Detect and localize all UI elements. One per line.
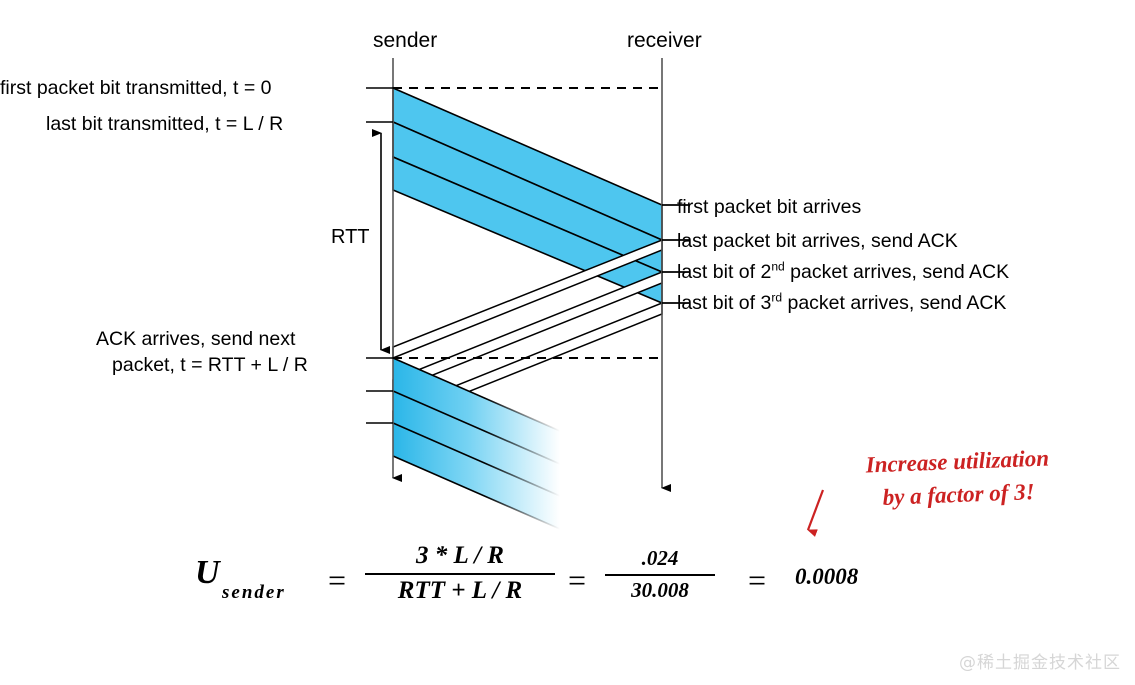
label-ack-arrives-line2: packet, t = RTT + L / R	[112, 353, 308, 378]
annotation-arrow	[808, 490, 823, 530]
label-last-bit-transmitted: last bit transmitted, t = L / R	[46, 112, 283, 137]
label-2nd-post: packet arrives, send ACK	[785, 261, 1009, 283]
equation-equals-3: =	[748, 562, 766, 599]
equation-u-symbol: U	[195, 554, 220, 592]
equation-u-subscript: sender	[222, 582, 286, 604]
label-3rd-sup: rd	[771, 291, 782, 305]
sender-header-label: sender	[373, 29, 437, 53]
fraction-2-bar	[605, 574, 715, 576]
equation-equals-1: =	[328, 562, 346, 599]
diagram-canvas: sender receiver first packet bit transmi…	[0, 0, 1135, 685]
label-first-packet-bit-arrives: first packet bit arrives	[677, 195, 861, 220]
watermark: @稀土掘金技术社区	[959, 648, 1121, 673]
fraction-1-bar	[365, 573, 555, 575]
fraction-2-denominator: 30.008	[605, 578, 715, 603]
label-2nd-pre: last bit of 2	[677, 261, 771, 283]
utilization-equation: U sender = 3 * L / R RTT + L / R = .024 …	[185, 530, 945, 640]
rtt-label: RTT	[331, 226, 370, 249]
annotation-increase-utilization: Increase utilization by a factor of 3!	[837, 440, 1079, 516]
label-last-packet-bit-arrives: last packet bit arrives, send ACK	[677, 229, 958, 254]
label-last-bit-2nd-packet-arrives: last bit of 2nd packet arrives, send ACK	[677, 260, 1009, 285]
fraction-1-numerator: 3 * L / R	[365, 542, 555, 570]
label-3rd-post: packet arrives, send ACK	[782, 292, 1006, 314]
fraction-2-numerator: .024	[605, 546, 715, 571]
fraction-1-denominator: RTT + L / R	[365, 577, 555, 605]
label-3rd-pre: last bit of 3	[677, 292, 771, 314]
label-2nd-sup: nd	[771, 260, 784, 274]
label-last-bit-3rd-packet-arrives: last bit of 3rd packet arrives, send ACK	[677, 291, 1006, 316]
equation-equals-2: =	[568, 562, 586, 599]
label-ack-arrives-line1: ACK arrives, send next	[96, 327, 295, 352]
receiver-header-label: receiver	[627, 29, 702, 53]
equation-fraction-1: 3 * L / R RTT + L / R	[365, 542, 555, 605]
equation-result: 0.0008	[795, 564, 858, 590]
equation-fraction-2: .024 30.008	[605, 546, 715, 603]
packet-band-first-window	[393, 88, 662, 303]
label-first-packet-bit-transmitted: first packet bit transmitted, t = 0	[0, 76, 272, 101]
